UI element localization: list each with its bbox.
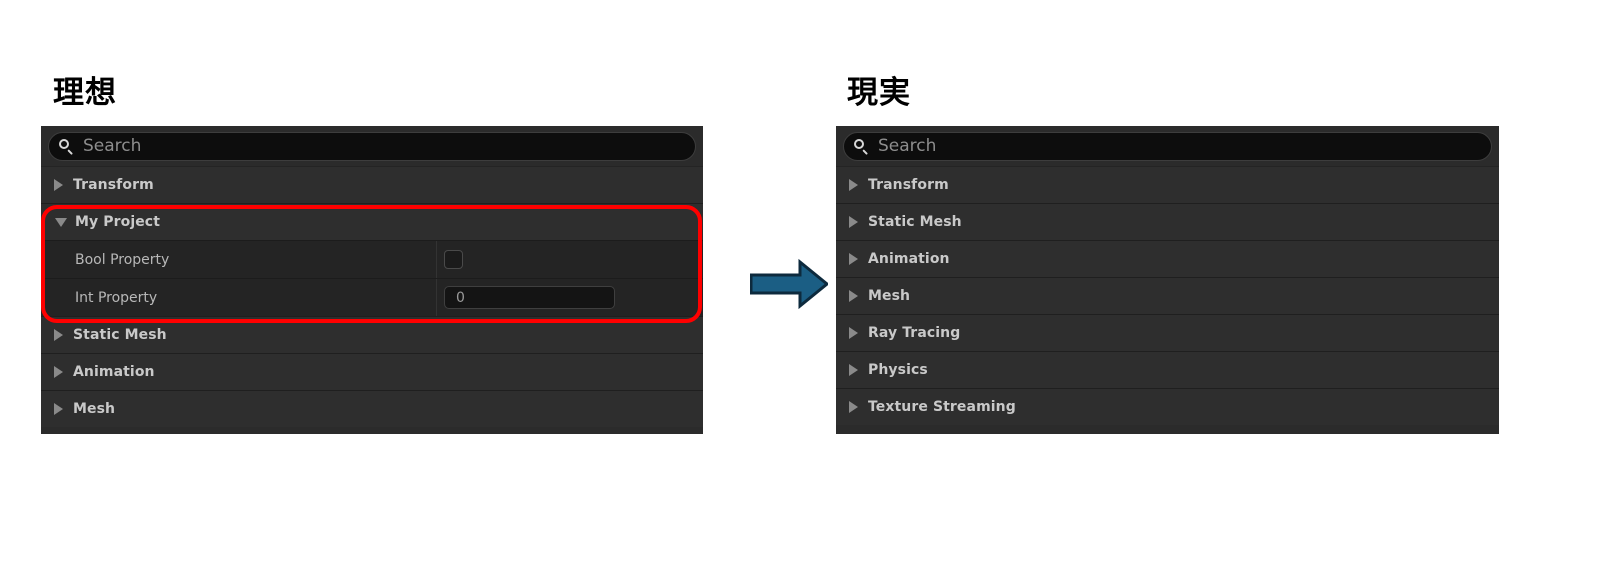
category-label: Static Mesh bbox=[73, 327, 167, 343]
category-row-animation[interactable]: Animation bbox=[836, 240, 1499, 277]
search-bar-ideal: Search bbox=[41, 126, 703, 166]
chevron-right-icon[interactable] bbox=[849, 327, 858, 339]
chevron-right-icon[interactable] bbox=[54, 329, 63, 341]
ideal-details-panel: Search Transform My Project Bool Propert… bbox=[41, 126, 703, 434]
category-label: Mesh bbox=[868, 288, 910, 304]
property-name-cell: Bool Property bbox=[41, 241, 437, 278]
search-input-reality[interactable]: Search bbox=[843, 132, 1492, 161]
category-label: Animation bbox=[73, 364, 155, 380]
property-row-bool: Bool Property bbox=[41, 240, 703, 278]
category-row-animation[interactable]: Animation bbox=[41, 353, 703, 390]
category-row-static-mesh[interactable]: Static Mesh bbox=[41, 316, 703, 353]
chevron-right-icon[interactable] bbox=[54, 366, 63, 378]
category-label: Mesh bbox=[73, 401, 115, 417]
category-row-mesh[interactable]: Mesh bbox=[41, 390, 703, 427]
search-bar-reality: Search bbox=[836, 126, 1499, 166]
category-row-my-project[interactable]: My Project bbox=[41, 203, 703, 240]
search-icon bbox=[59, 139, 74, 154]
category-label: Animation bbox=[868, 251, 950, 267]
category-row-transform[interactable]: Transform bbox=[41, 166, 703, 203]
reality-caption: 現実 bbox=[847, 78, 911, 109]
reality-details-panel: Search Transform Static Mesh Animation M… bbox=[836, 126, 1499, 434]
chevron-right-icon[interactable] bbox=[849, 253, 858, 265]
chevron-right-icon[interactable] bbox=[849, 364, 858, 376]
category-label: Static Mesh bbox=[868, 214, 962, 230]
chevron-right-icon[interactable] bbox=[849, 290, 858, 302]
property-value-cell: 0 bbox=[437, 279, 703, 316]
chevron-right-icon[interactable] bbox=[849, 179, 858, 191]
search-input-ideal[interactable]: Search bbox=[48, 132, 696, 161]
int-property-value: 0 bbox=[456, 290, 465, 306]
category-label: Transform bbox=[73, 177, 154, 193]
category-row-ray-tracing[interactable]: Ray Tracing bbox=[836, 314, 1499, 351]
right-arrow-icon bbox=[750, 258, 828, 310]
category-row-texture-streaming[interactable]: Texture Streaming bbox=[836, 388, 1499, 425]
chevron-right-icon[interactable] bbox=[849, 401, 858, 413]
chevron-right-icon[interactable] bbox=[54, 179, 63, 191]
property-label: Bool Property bbox=[75, 252, 169, 268]
ideal-caption: 理想 bbox=[53, 78, 117, 109]
bool-property-checkbox[interactable] bbox=[444, 250, 463, 269]
search-icon bbox=[854, 139, 869, 154]
category-row-mesh[interactable]: Mesh bbox=[836, 277, 1499, 314]
category-row-physics[interactable]: Physics bbox=[836, 351, 1499, 388]
category-label: Texture Streaming bbox=[868, 399, 1016, 415]
category-label: My Project bbox=[75, 214, 160, 230]
search-placeholder-ideal: Search bbox=[83, 138, 141, 155]
category-row-static-mesh[interactable]: Static Mesh bbox=[836, 203, 1499, 240]
category-label: Transform bbox=[868, 177, 949, 193]
chevron-down-icon[interactable] bbox=[55, 218, 67, 227]
chevron-right-icon[interactable] bbox=[849, 216, 858, 228]
category-label: Physics bbox=[868, 362, 928, 378]
search-placeholder-reality: Search bbox=[878, 138, 936, 155]
int-property-input[interactable]: 0 bbox=[444, 286, 615, 309]
property-row-int: Int Property 0 bbox=[41, 278, 703, 316]
property-value-cell bbox=[437, 241, 703, 278]
chevron-right-icon[interactable] bbox=[54, 403, 63, 415]
property-label: Int Property bbox=[75, 290, 157, 306]
category-label: Ray Tracing bbox=[868, 325, 960, 341]
category-row-transform[interactable]: Transform bbox=[836, 166, 1499, 203]
property-name-cell: Int Property bbox=[41, 279, 437, 316]
